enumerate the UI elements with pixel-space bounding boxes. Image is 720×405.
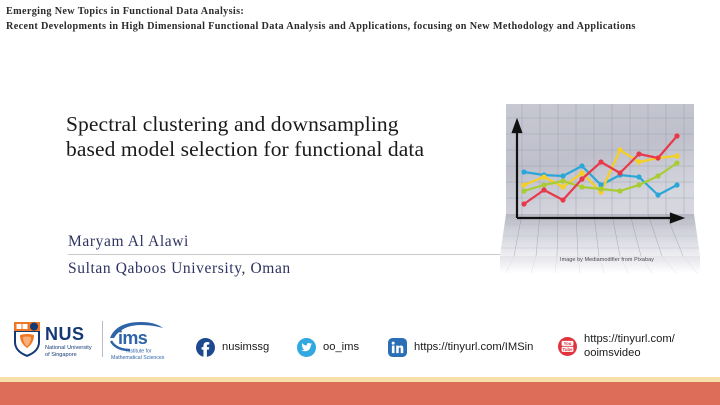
svg-text:Mathematical Sciences: Mathematical Sciences [111, 355, 165, 361]
ims-logo: ims Institute for Mathematical Sciences [108, 319, 180, 363]
social-link-twitter[interactable]: oo_ims [297, 338, 359, 357]
nus-logo: NUS National University of Singapore [12, 320, 100, 360]
svg-text:Tube: Tube [563, 347, 574, 352]
social-link-facebook[interactable]: nusimssg [196, 338, 269, 357]
social-link-youtube[interactable]: You Tube https://tinyurl.com/ ooimsvideo [558, 333, 675, 360]
conference-header-line2: Recent Developments in High Dimensional … [6, 19, 712, 34]
social-label-facebook: nusimssg [222, 341, 269, 355]
social-label-twitter: oo_ims [323, 341, 359, 355]
title-line-2: based model selection for functional dat… [66, 137, 486, 162]
author-block: Maryam Al Alawi Sultan Qaboos University… [68, 232, 510, 279]
svg-text:You: You [564, 341, 572, 346]
linkedin-icon[interactable] [388, 338, 407, 357]
bottom-color-bar [0, 382, 720, 405]
chart-image [500, 96, 700, 273]
social-link-linkedin[interactable]: https://tinyurl.com/IMSin [388, 338, 533, 357]
svg-text:ims: ims [118, 328, 148, 348]
conference-header: Emerging New Topics in Functional Data A… [6, 4, 712, 34]
conference-header-line1: Emerging New Topics in Functional Data A… [6, 4, 712, 19]
svg-text:Institute for: Institute for [126, 349, 152, 355]
svg-text:NUS: NUS [45, 324, 85, 344]
presentation-slide: Emerging New Topics in Functional Data A… [0, 0, 720, 405]
author-divider [68, 254, 510, 255]
author-affiliation: Sultan Qaboos University, Oman [68, 258, 510, 279]
social-label-linkedin: https://tinyurl.com/IMSin [414, 341, 533, 355]
svg-text:National University: National University [45, 345, 92, 351]
facebook-icon[interactable] [196, 338, 215, 357]
page-title: Spectral clustering and downsampling bas… [66, 112, 486, 162]
chart-image-caption: Image by Mediamodifier from Pixabay [560, 257, 654, 263]
twitter-icon[interactable] [297, 338, 316, 357]
youtube-icon[interactable]: You Tube [558, 337, 577, 356]
svg-text:of Singapore: of Singapore [45, 352, 77, 358]
title-line-1: Spectral clustering and downsampling [66, 112, 486, 137]
social-label-youtube: https://tinyurl.com/ ooimsvideo [584, 333, 675, 360]
author-name: Maryam Al Alawi [68, 232, 510, 252]
logo-divider [102, 321, 103, 357]
